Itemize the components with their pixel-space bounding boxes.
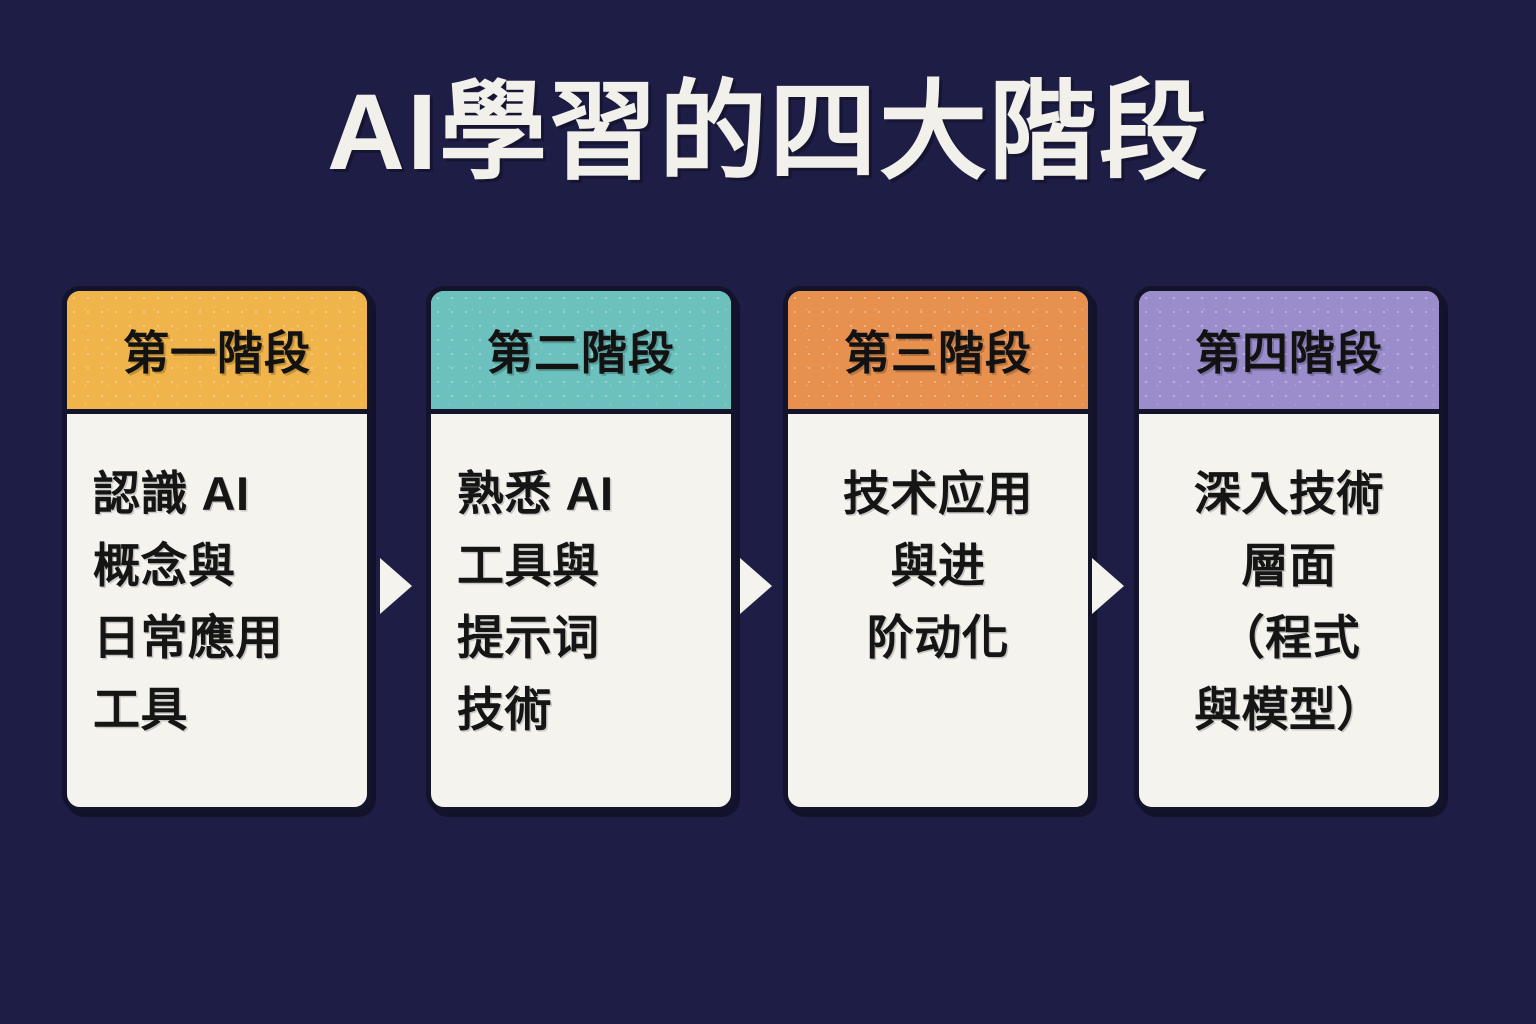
stage-card-4-line-1: 深入技術 [1161,458,1417,530]
stage-card-row: 第一階段 認識 AI 概念與 日常應用 工具 第二階段 熟悉 AI 工具與 提示… [62,286,1444,816]
stage-card-3-header-label: 第三階段 [844,317,1032,383]
stage-card-4-header: 第四階段 [1139,291,1439,414]
stage-card-2-header-label: 第二階段 [487,317,675,383]
stage-card-3-line-2: 與进 [810,530,1066,602]
stage-card-3-header: 第三階段 [788,291,1088,414]
flow-arrow-icon-3 [1092,558,1124,614]
stage-card-2-line-4: 技術 [457,674,709,746]
stage-card-3[interactable]: 第三階段 技术应用 與进 阶动化 [783,286,1093,812]
stage-card-1[interactable]: 第一階段 認識 AI 概念與 日常應用 工具 [62,286,372,812]
stage-card-2-line-1: 熟悉 AI [457,458,709,530]
stage-card-2[interactable]: 第二階段 熟悉 AI 工具與 提示词 技術 [426,286,736,812]
stage-card-2-body: 熟悉 AI 工具與 提示词 技術 [431,414,731,746]
stage-card-2-header: 第二階段 [431,291,731,414]
stage-card-4-line-4: 與模型） [1161,674,1417,746]
poster-canvas: AI學習的四大階段 第一階段 認識 AI 概念與 日常應用 工具 第二階段 熟悉… [0,0,1536,1024]
stage-card-1-line-2: 概念與 [93,530,345,602]
stage-card-1-header: 第一階段 [67,291,367,414]
stage-card-4-line-2: 層面 [1161,530,1417,602]
stage-card-1-header-label: 第一階段 [123,317,311,383]
stage-card-4-body: 深入技術 層面 （程式 與模型） [1139,414,1439,746]
stage-card-3-body: 技术应用 與进 阶动化 [788,414,1088,674]
stage-card-4[interactable]: 第四階段 深入技術 層面 （程式 與模型） [1134,286,1444,812]
flow-arrow-icon-1 [380,558,412,614]
stage-card-3-line-3: 阶动化 [810,602,1066,674]
stage-card-2-line-2: 工具與 [457,530,709,602]
stage-card-1-body: 認識 AI 概念與 日常應用 工具 [67,414,367,746]
stage-card-3-line-1: 技术应用 [810,458,1066,530]
stage-card-2-line-3: 提示词 [457,602,709,674]
stage-card-4-line-3: （程式 [1161,602,1417,674]
page-title: AI學習的四大階段 [0,72,1536,193]
stage-card-4-header-label: 第四階段 [1195,317,1383,383]
flow-arrow-icon-2 [740,558,772,614]
stage-card-1-line-3: 日常應用 [93,602,345,674]
stage-card-1-line-1: 認識 AI [93,458,345,530]
stage-card-1-line-4: 工具 [93,674,345,746]
